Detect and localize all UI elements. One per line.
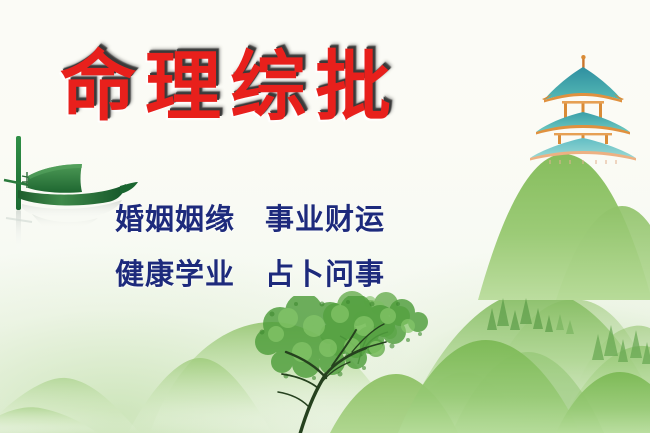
subtitle-line-2: 健康学业 占卜问事: [0, 260, 500, 289]
poster-canvas: 命理综批 婚姻姻缘 事业财运 健康学业 占卜问事: [0, 0, 650, 433]
subtitle-block: 婚姻姻缘 事业财运 健康学业 占卜问事: [0, 205, 500, 315]
tree-illustration: [252, 296, 437, 433]
title-block: 命理综批: [0, 48, 460, 126]
page-title: 命理综批: [60, 48, 400, 126]
pagoda-illustration: [528, 52, 640, 164]
subtitle-line-1: 婚姻姻缘 事业财运: [0, 205, 500, 234]
